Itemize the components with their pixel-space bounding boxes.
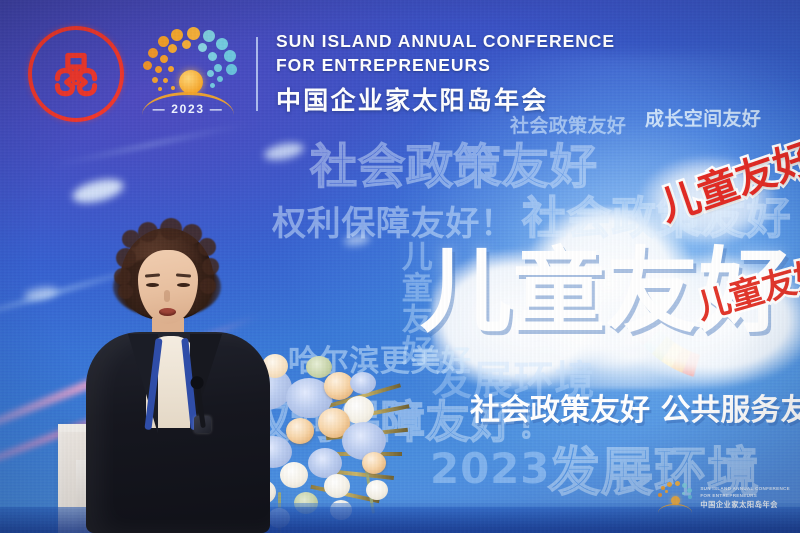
speaker-eye (177, 283, 190, 287)
screenshot-root: 社会政策友好 权利保障友好！ 社会政策友好 成长空间友好 社会政策友好 儿童友好… (0, 0, 800, 533)
speaker-nose (164, 290, 170, 302)
speaker-mouth (159, 308, 176, 316)
speaker-eye (146, 283, 159, 287)
